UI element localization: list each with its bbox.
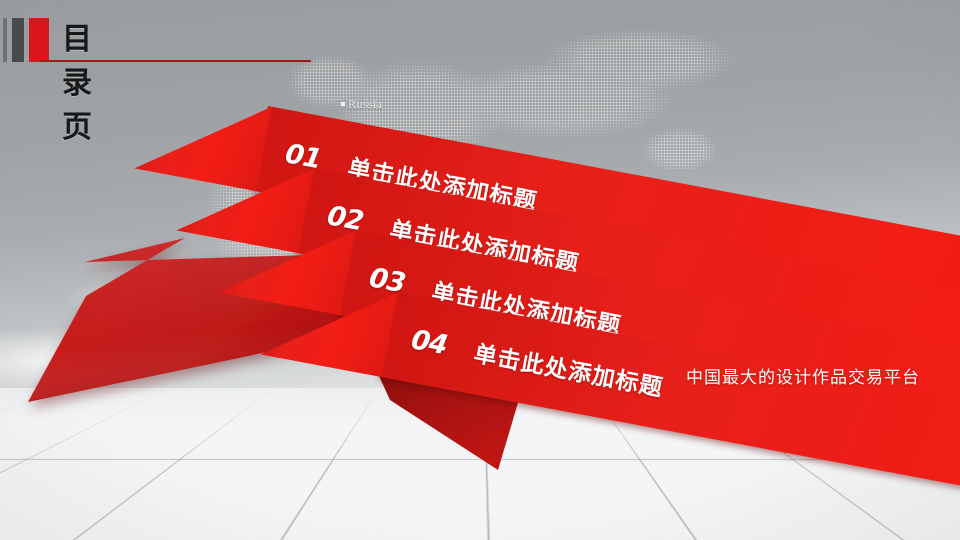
header-accent-bar-1	[3, 18, 7, 62]
agenda-number-04: 04	[409, 324, 478, 366]
header-accent-bar-3	[29, 18, 49, 62]
page-title: 目录页	[62, 18, 94, 150]
agenda-title-04[interactable]: 单击此处添加标题	[471, 334, 666, 403]
agenda-band-group: 01 单击此处添加标题 02 单击此处添加标题 03 单击此处添加标题 04 单…	[0, 0, 960, 540]
header-accent-bar-2	[12, 18, 24, 62]
slide-canvas: Russia Europe	[0, 0, 960, 540]
title-underline-rule	[41, 60, 311, 62]
footer-tagline: 中国最大的设计作品交易平台	[686, 363, 920, 388]
